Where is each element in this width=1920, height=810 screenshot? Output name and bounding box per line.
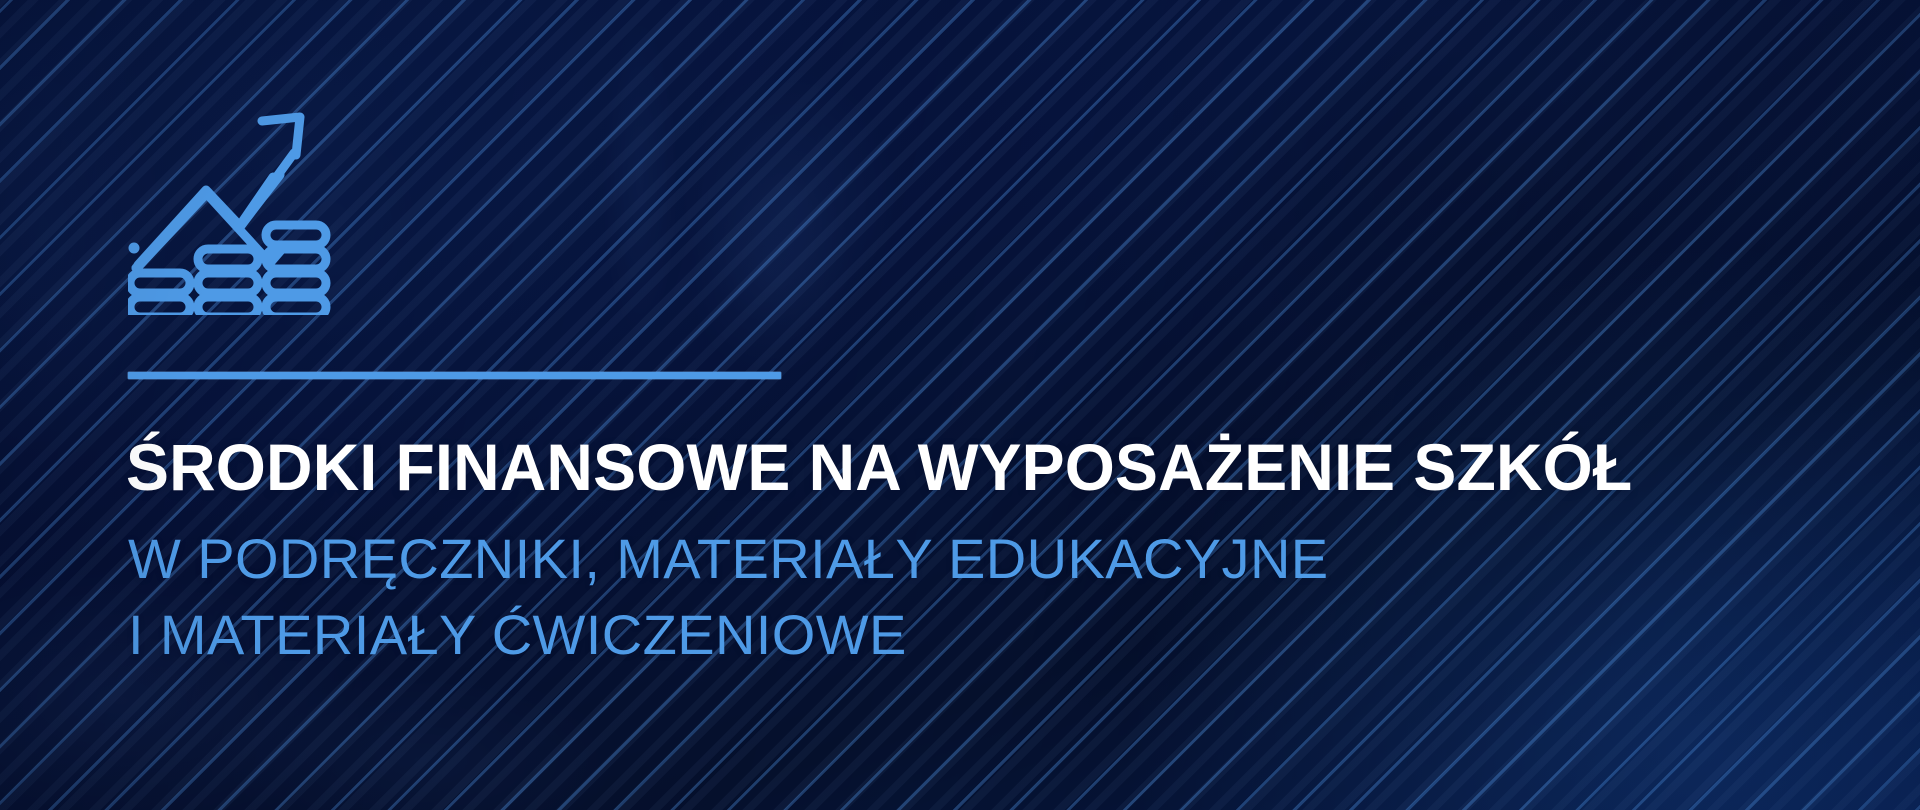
banner-content: ŚRODKI FINANSOWE NA WYPOSAŻENIE SZKÓŁ W … <box>128 0 1888 810</box>
page-subtitle: W PODRĘCZNIKI, MATERIAŁY EDUKACYJNE I MA… <box>128 521 1329 673</box>
banner-hero: ŚRODKI FINANSOWE NA WYPOSAŻENIE SZKÓŁ W … <box>0 0 1920 810</box>
growth-chart-coins-icon <box>128 105 333 315</box>
subtitle-line-1: W PODRĘCZNIKI, MATERIAŁY EDUKACYJNE <box>128 521 1329 597</box>
subtitle-line-2: I MATERIAŁY ĆWICZENIOWE <box>128 597 1329 673</box>
page-title: ŚRODKI FINANSOWE NA WYPOSAŻENIE SZKÓŁ <box>126 428 1632 506</box>
accent-divider <box>128 372 781 379</box>
